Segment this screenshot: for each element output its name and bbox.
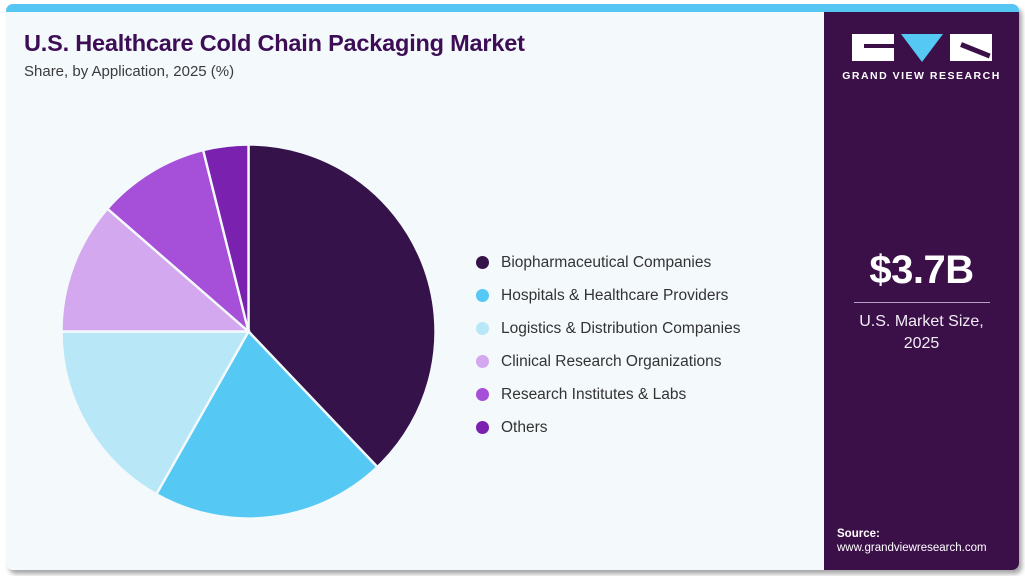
legend-item[interactable]: Hospitals & Healthcare Providers	[476, 279, 741, 312]
pie-chart	[61, 144, 436, 519]
source-label: Source:	[837, 528, 1011, 540]
legend-color-swatch-icon	[476, 289, 489, 302]
logo-marks	[824, 34, 1019, 61]
legend-item[interactable]: Clinical Research Organizations	[476, 345, 741, 378]
legend-item[interactable]: Others	[476, 411, 741, 444]
gvr-logo: GRAND VIEW RESEARCH	[824, 34, 1019, 82]
logo-g-icon	[852, 34, 894, 61]
legend-label: Others	[501, 419, 548, 437]
market-size-stat: $3.7B U.S. Market Size, 2025	[824, 248, 1019, 355]
page-subtitle: Share, by Application, 2025 (%)	[24, 63, 234, 80]
brand-panel: GRAND VIEW RESEARCH $3.7B U.S. Market Si…	[824, 12, 1019, 570]
chart-content-area: U.S. Healthcare Cold Chain Packaging Mar…	[6, 12, 824, 570]
legend-color-swatch-icon	[476, 355, 489, 368]
logo-r-icon	[950, 34, 992, 61]
stat-divider	[854, 302, 990, 303]
pie-slice-group	[62, 145, 436, 519]
brand-name: GRAND VIEW RESEARCH	[824, 70, 1019, 82]
legend-label: Clinical Research Organizations	[501, 353, 722, 371]
source-block: Source: www.grandviewresearch.com	[837, 528, 1011, 554]
chart-legend: Biopharmaceutical CompaniesHospitals & H…	[476, 246, 741, 444]
legend-label: Hospitals & Healthcare Providers	[501, 287, 728, 305]
legend-item[interactable]: Biopharmaceutical Companies	[476, 246, 741, 279]
logo-v-triangle-icon	[901, 34, 943, 62]
legend-label: Logistics & Distribution Companies	[501, 320, 741, 338]
accent-top-bar	[6, 4, 1019, 12]
market-size-value: $3.7B	[824, 248, 1019, 293]
legend-label: Biopharmaceutical Companies	[501, 254, 711, 272]
legend-color-swatch-icon	[476, 388, 489, 401]
market-size-caption: U.S. Market Size, 2025	[824, 311, 1019, 355]
legend-item[interactable]: Research Institutes & Labs	[476, 378, 741, 411]
legend-color-swatch-icon	[476, 322, 489, 335]
infographic-card: U.S. Healthcare Cold Chain Packaging Mar…	[6, 4, 1019, 570]
pie-chart-svg	[61, 144, 436, 519]
legend-label: Research Institutes & Labs	[501, 386, 686, 404]
legend-color-swatch-icon	[476, 421, 489, 434]
legend-item[interactable]: Logistics & Distribution Companies	[476, 312, 741, 345]
legend-color-swatch-icon	[476, 256, 489, 269]
page-title: U.S. Healthcare Cold Chain Packaging Mar…	[24, 30, 525, 57]
source-url[interactable]: www.grandviewresearch.com	[837, 542, 1011, 554]
